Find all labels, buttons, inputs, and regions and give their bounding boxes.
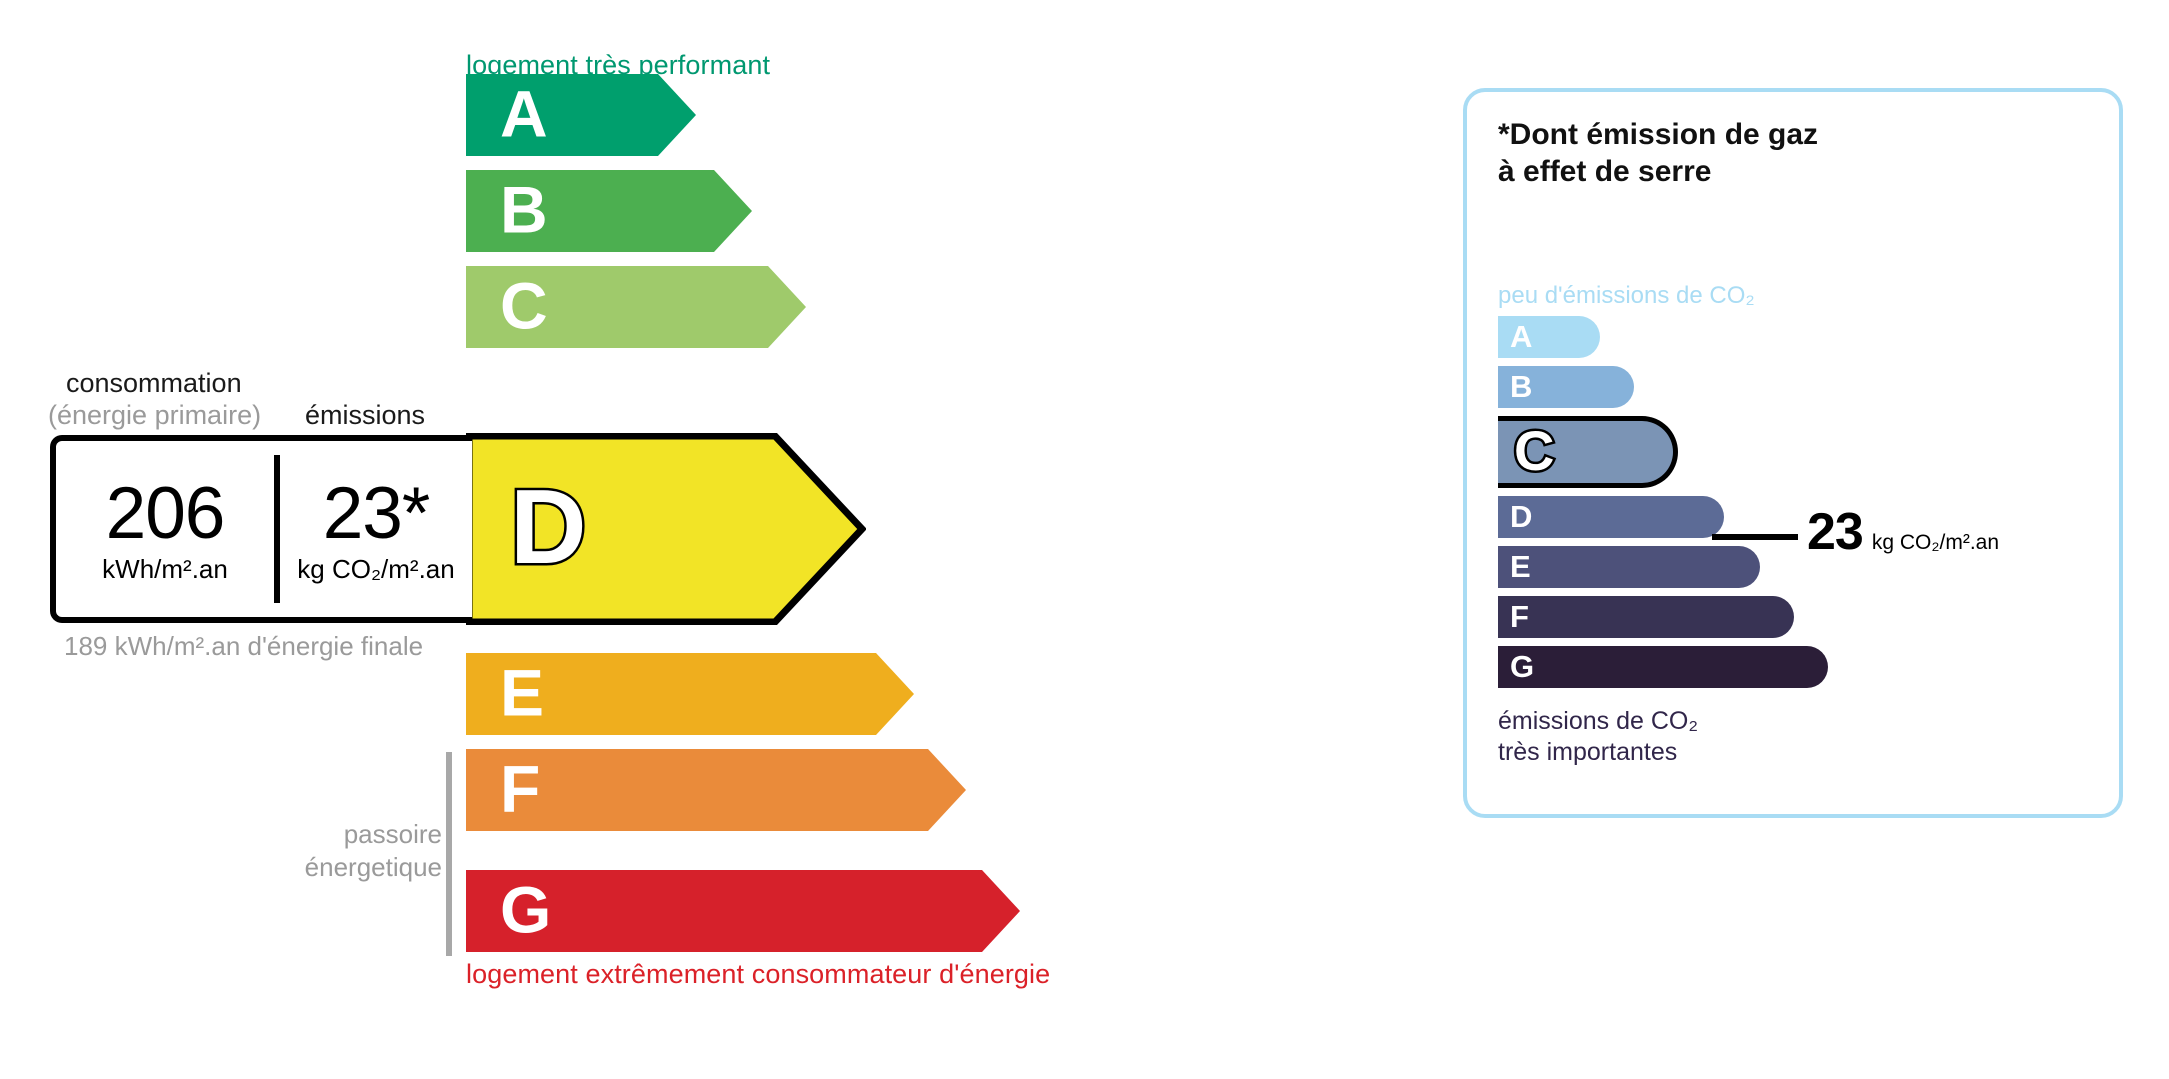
energy-bar-g: G	[466, 870, 1020, 952]
co2-callout-unit: kg CO₂/m².an	[1872, 531, 1999, 555]
consumption-unit: kWh/m².an	[102, 554, 228, 585]
co2-letter-a: A	[1510, 321, 1532, 352]
energy-arrow-a-shape	[466, 74, 696, 156]
co2-panel-title: *Dont émission de gaz à effet de serre	[1498, 117, 1818, 190]
co2-letter-e: E	[1510, 551, 1531, 582]
co2-bar-f-shape	[1498, 596, 1794, 638]
label-consommation: consommation	[66, 368, 242, 399]
passoire-label: passoire énergetique	[282, 818, 442, 883]
co2-letter-d: D	[1510, 501, 1532, 532]
consumption-value-box: 206 kWh/m².an 23* kg CO₂/m².an	[50, 435, 472, 623]
energy-arrow-b-shape	[466, 170, 752, 252]
consumption-value: 206	[106, 479, 225, 548]
energy-bar-d-selected: D	[466, 433, 866, 625]
co2-emissions-panel: *Dont émission de gaz à effet de serre p…	[1463, 88, 2123, 818]
co2-bar-e-shape	[1498, 546, 1760, 588]
co2-letter-f: F	[1510, 601, 1529, 632]
final-energy-label: 189 kWh/m².an d'énergie finale	[64, 630, 423, 663]
energy-bar-a: A	[466, 74, 696, 156]
energy-bar-b: B	[466, 170, 752, 252]
co2-callout-leader-line	[1712, 534, 1798, 540]
co2-letter-b: B	[1510, 371, 1532, 402]
consumption-cell: 206 kWh/m².an	[56, 441, 274, 617]
co2-letter-g: G	[1510, 651, 1534, 682]
co2-letter-c: C	[1514, 423, 1554, 479]
co2-bottom-caption: émissions de CO₂ très importantes	[1498, 706, 1698, 769]
energy-bottom-caption: logement extrêmement consommateur d'éner…	[466, 959, 1050, 990]
energy-arrow-c-shape	[466, 266, 806, 348]
dpe-infographic: logement très performant A B	[0, 0, 2169, 1079]
energy-arrow-e-shape	[466, 653, 914, 735]
label-emissions: émissions	[305, 400, 425, 431]
energy-arrow-g-shape	[466, 870, 1020, 952]
energy-bar-c: C	[466, 266, 806, 348]
energy-bar-f: F	[466, 749, 966, 831]
energy-arrow-d-shape	[466, 433, 866, 625]
emission-cell: 23* kg CO₂/m².an	[280, 441, 472, 617]
energy-consumption-scale: logement très performant A B	[0, 0, 1400, 1079]
co2-bar-g-shape	[1498, 646, 1828, 688]
emission-unit: kg CO₂/m².an	[297, 554, 454, 585]
energy-bar-e: E	[466, 653, 914, 735]
co2-top-caption: peu d'émissions de CO₂	[1498, 282, 1755, 310]
label-energie-primaire: (énergie primaire)	[48, 400, 261, 431]
co2-callout: 23 kg CO₂/m².an	[1807, 502, 1999, 562]
passoire-indicator-bar	[446, 752, 452, 956]
emission-value: 23*	[323, 479, 430, 548]
co2-callout-value: 23	[1807, 502, 1863, 562]
energy-arrow-f-shape	[466, 749, 966, 831]
